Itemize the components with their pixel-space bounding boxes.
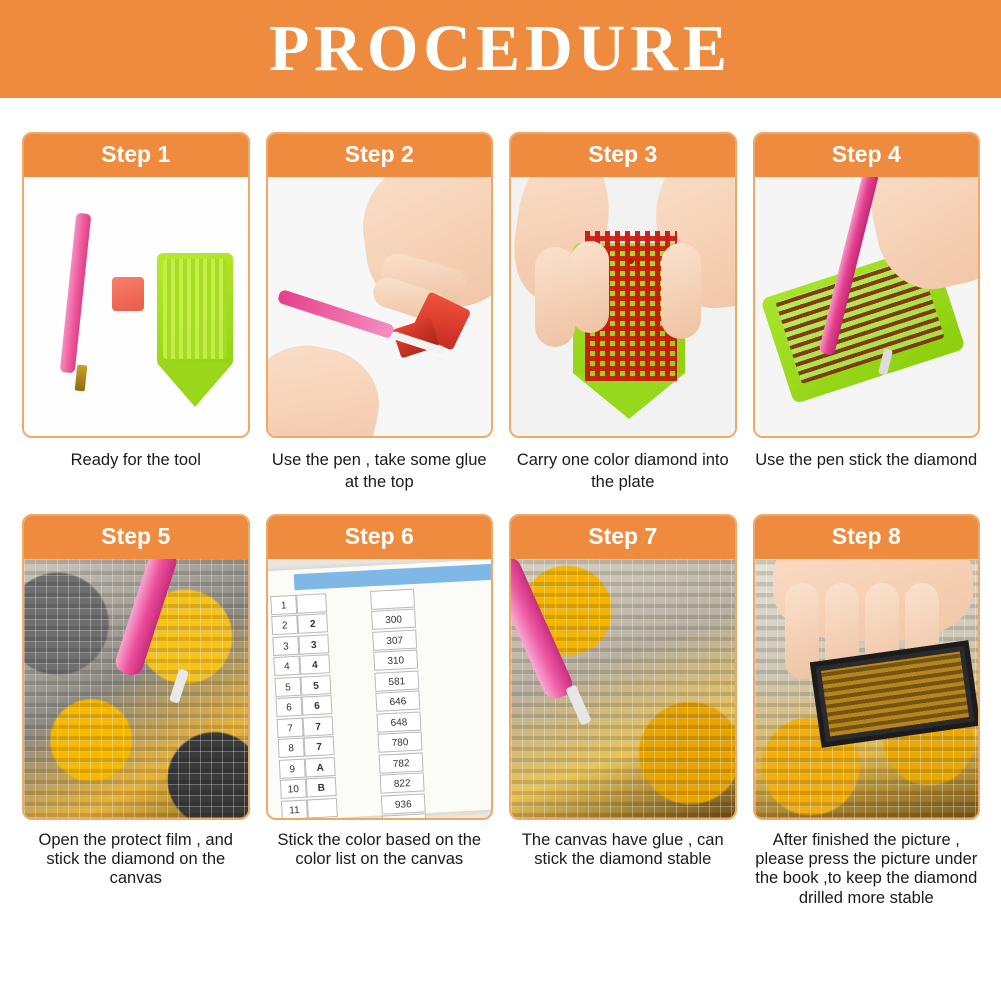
cell-spacer: [329, 652, 374, 673]
procedure-poster: PROCEDURE Step 1 Ready for the tool: [0, 0, 1001, 1001]
cell-count: 822: [379, 772, 424, 793]
cell-count: 310: [373, 649, 418, 670]
cell-count: 648: [376, 711, 421, 732]
step-cell-7: Step 7 The canvas have glue , can stick …: [501, 514, 745, 909]
cell-symbol: 4: [299, 654, 330, 675]
step-card-8: Step 8: [753, 514, 981, 820]
step-title-8: Step 8: [755, 516, 979, 559]
step-illustration-6: 1 2 2 300: [268, 559, 492, 818]
step-illustration-3: [511, 177, 735, 436]
cell-symbol: B: [305, 777, 336, 798]
step-title-2: Step 2: [268, 134, 492, 177]
cell-no: 4: [273, 656, 300, 676]
cell-no: 5: [274, 676, 301, 696]
cell-no: 1: [270, 594, 297, 614]
cell-symbol: 7: [303, 736, 334, 757]
step-card-1: Step 1: [22, 132, 250, 438]
step-title-4: Step 4: [755, 134, 979, 177]
cell-count: 646: [375, 690, 420, 711]
step-cell-6: Step 6 1 2: [258, 514, 502, 909]
cell-spacer: [335, 774, 380, 795]
cell-symbol: 3: [298, 633, 329, 654]
step-illustration-5: [24, 559, 248, 818]
step-illustration-7: [511, 559, 735, 818]
finger-icon: [535, 247, 575, 347]
cell-count: 780: [377, 731, 422, 752]
cell-count: 782: [378, 752, 423, 773]
step-title-7: Step 7: [511, 516, 735, 559]
step-caption-6: Stick the color based on the color list …: [266, 831, 494, 870]
cell-symbol: 6: [301, 695, 332, 716]
cell-spacer: [334, 754, 379, 775]
cell-no: 8: [277, 737, 304, 757]
color-list-illustration: 1 2 2 300: [268, 559, 492, 818]
cell-symbol: A: [304, 756, 335, 777]
step-title-6: Step 6: [268, 516, 492, 559]
step-cell-1: Step 1 Ready for the tool: [14, 132, 258, 494]
cell-no: 3: [272, 635, 299, 655]
cell-symbol: [306, 797, 337, 817]
left-hand-icon: [268, 335, 389, 436]
step-caption-7: The canvas have glue , can stick the dia…: [509, 831, 737, 870]
cell-no: 10: [279, 778, 306, 798]
plate-diamonds-illustration: [511, 177, 735, 436]
step-card-7: Step 7: [509, 514, 737, 820]
cell-spacer: [328, 631, 373, 652]
cell-spacer: [332, 713, 377, 734]
steps-grid: Step 1 Ready for the tool Step 2: [14, 132, 988, 908]
cell-count: 581: [374, 670, 419, 691]
cell-symbol: 7: [302, 715, 333, 736]
step-card-5: Step 5: [22, 514, 250, 820]
cell-count: [370, 588, 415, 609]
pen-tip-icon: [75, 365, 88, 392]
step-card-4: Step 4: [753, 132, 981, 438]
page-title: PROCEDURE: [269, 16, 732, 82]
page-header: PROCEDURE: [0, 0, 1001, 98]
glue-clay-icon: [112, 277, 144, 311]
step-cell-2: Step 2 Use the pen , take some glue at t…: [258, 132, 502, 494]
cell-spacer: [336, 795, 381, 816]
cell-no: 2: [271, 615, 298, 635]
pink-pen-icon: [60, 213, 92, 374]
step-illustration-2: [268, 177, 492, 436]
step-cell-4: Step 4 Use the pen stick the diamond: [745, 132, 989, 494]
step-illustration-1: [24, 177, 248, 436]
cell-no: 7: [276, 717, 303, 737]
step-caption-1: Ready for the tool: [22, 449, 250, 471]
finger-icon: [661, 243, 701, 339]
step-card-6: Step 6 1 2: [266, 514, 494, 820]
step-caption-5: Open the protect film , and stick the di…: [22, 831, 250, 889]
step-card-2: Step 2: [266, 132, 494, 438]
cell-symbol: [296, 593, 327, 614]
cell-spacer: [326, 590, 371, 611]
cell-spacer: [330, 672, 375, 693]
pen-glue-illustration: [268, 177, 492, 436]
step-cell-8: Step 8 After finished the picture , plea…: [745, 514, 989, 909]
step-illustration-8: [755, 559, 979, 818]
step-caption-2: Use the pen , take some glue at the top: [266, 449, 494, 494]
cell-symbol: 5: [300, 674, 331, 695]
book-cover-art: [821, 651, 969, 736]
tray-grooves-icon: [163, 259, 227, 359]
step-caption-4: Use the pen stick the diamond: [753, 449, 981, 471]
step-cell-3: Step 3 Carry one color diamond into the …: [501, 132, 745, 494]
cell-spacer: [333, 734, 378, 755]
step-illustration-4: [755, 177, 979, 436]
step-title-1: Step 1: [24, 134, 248, 177]
step-title-3: Step 3: [511, 134, 735, 177]
cell-spacer: [327, 611, 372, 632]
cell-spacer: [331, 693, 376, 714]
step-cell-5: Step 5 Open the protect film , and stick…: [14, 514, 258, 909]
step-card-3: Step 3: [509, 132, 737, 438]
cell-no: 6: [275, 696, 302, 716]
finger-icon: [571, 241, 609, 333]
step-caption-8: After finished the picture , please pres…: [753, 831, 981, 909]
cell-count: 300: [371, 608, 416, 629]
cell-no: 11: [280, 799, 307, 818]
cell-count: 307: [372, 629, 417, 650]
color-list-table: 1 2 2 300: [270, 583, 491, 818]
cell-count: 936: [380, 793, 425, 814]
step-caption-3: Carry one color diamond into the plate: [509, 449, 737, 494]
pen-clay-tray-illustration: [24, 177, 248, 436]
cell-symbol: 2: [297, 613, 328, 634]
pen-stick-diamond-illustration: [755, 177, 979, 436]
step-title-5: Step 5: [24, 516, 248, 559]
cell-no: 9: [278, 758, 305, 778]
